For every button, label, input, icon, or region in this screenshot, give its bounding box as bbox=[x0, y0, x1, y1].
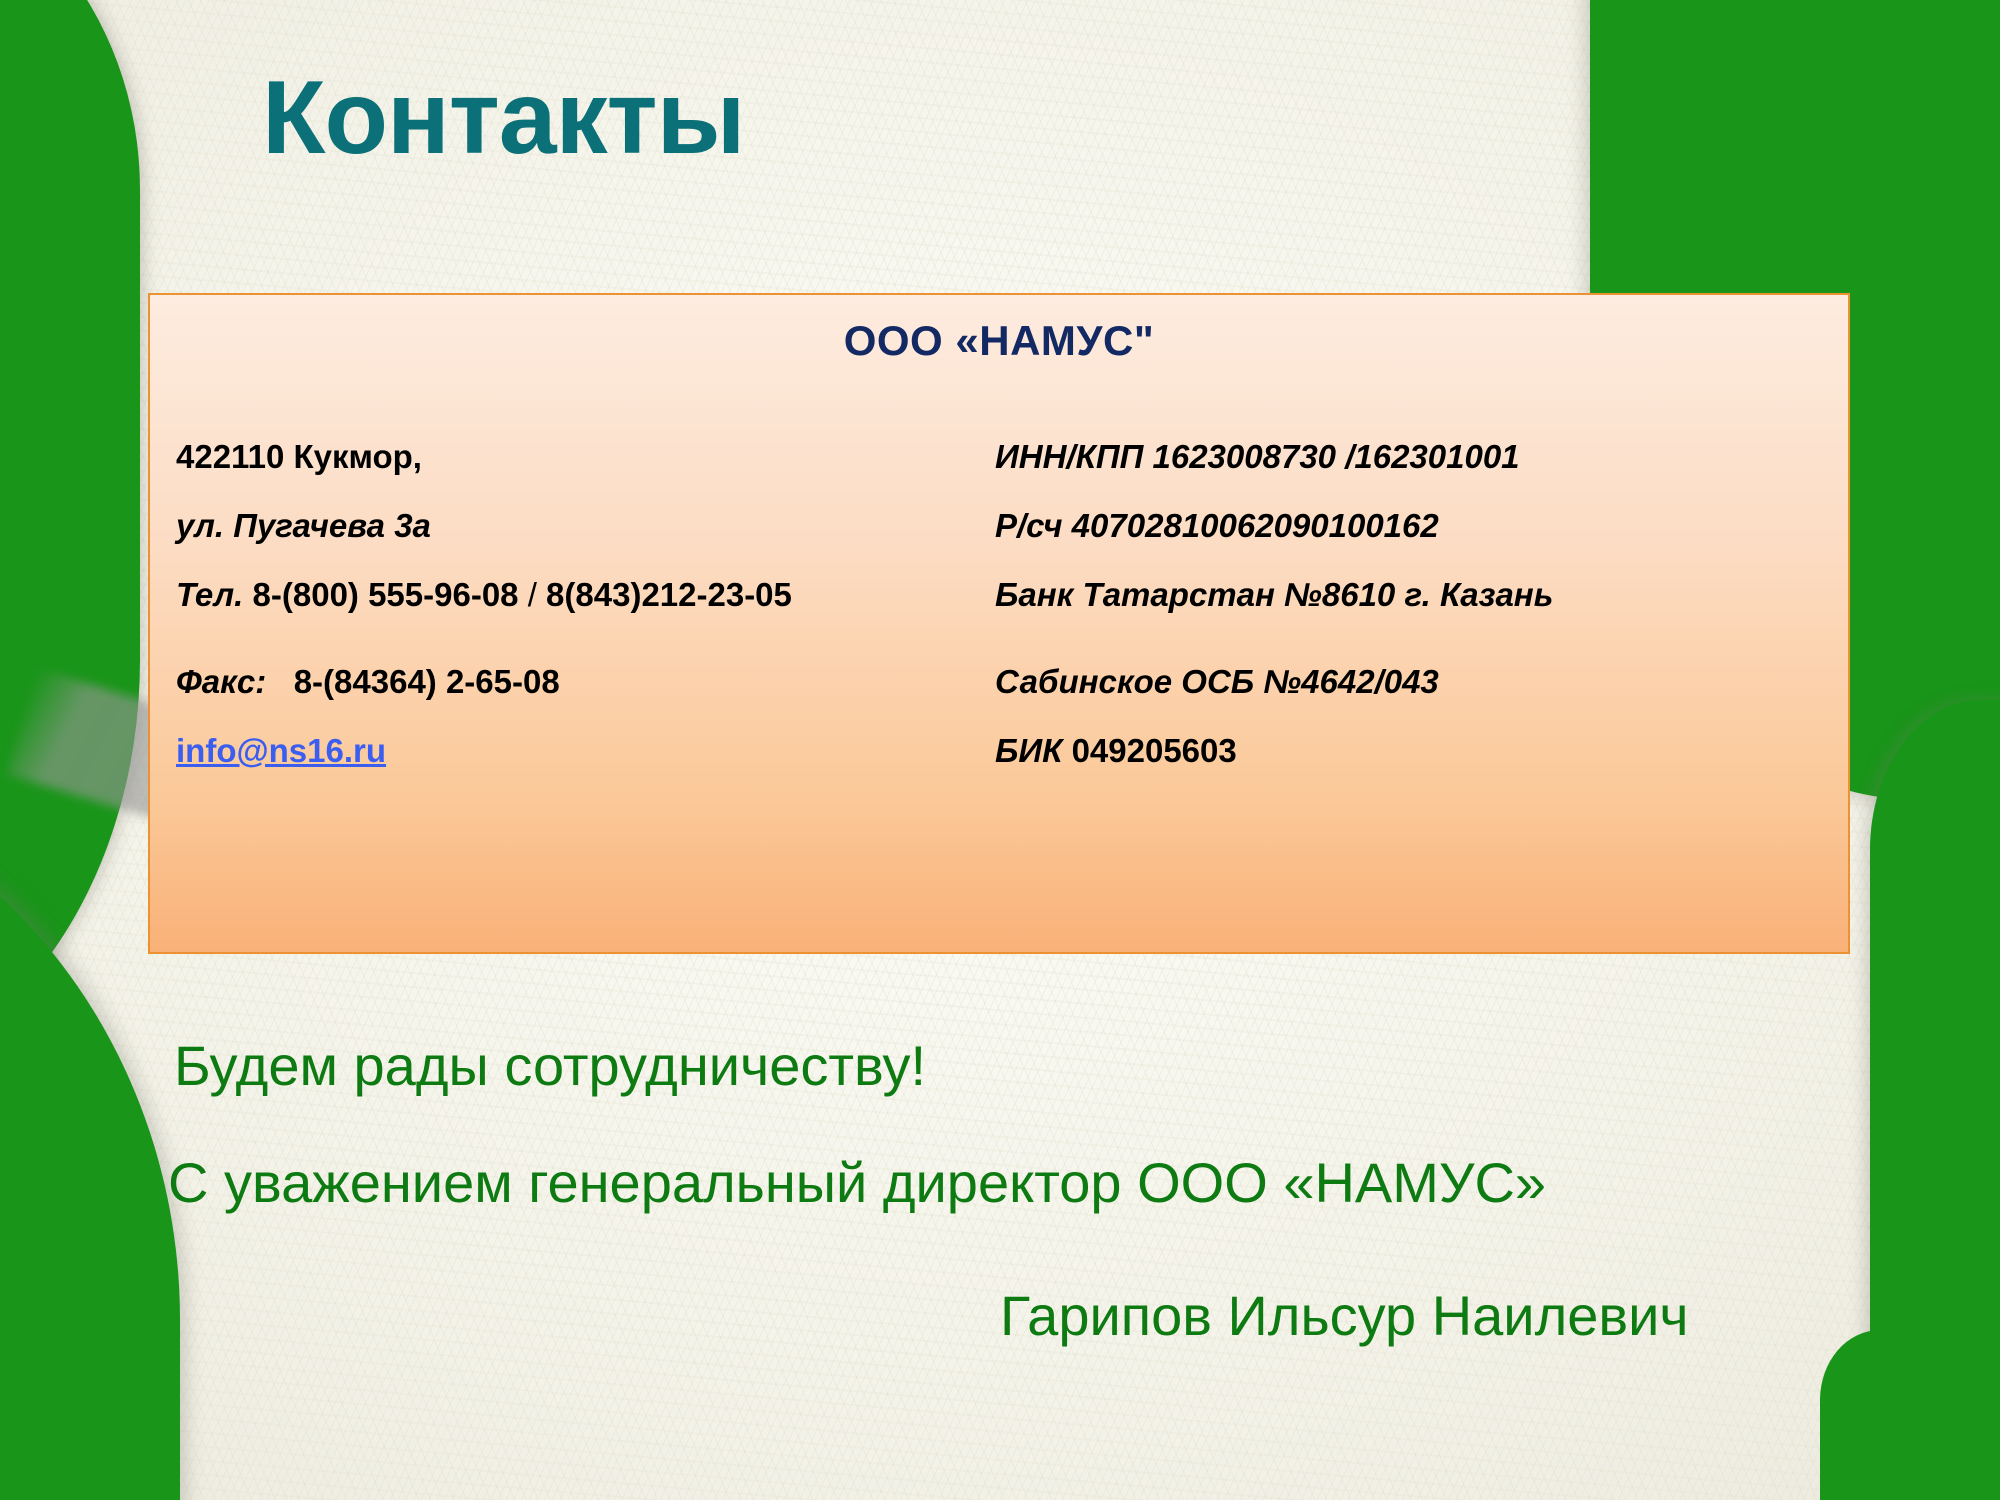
postal-address-row: 422110 Кукмор, bbox=[176, 440, 976, 473]
fax-label: Факс: bbox=[176, 663, 266, 700]
bank-name-row: Банк Татарстан №8610 г. Казань bbox=[995, 578, 1825, 611]
page-title: Контакты bbox=[262, 64, 744, 173]
phone-label: Тел. bbox=[176, 576, 243, 613]
bank-branch-value: Сабинское ОСБ №4642/043 bbox=[995, 663, 1439, 700]
bik-label: БИК bbox=[995, 732, 1062, 769]
street-address: ул. Пугачева 3а bbox=[176, 507, 431, 544]
bank-branch-row: Сабинское ОСБ №4642/043 bbox=[995, 665, 1825, 698]
bik-row: БИК 049205603 bbox=[995, 734, 1825, 767]
closing-line-director: С уважением генеральный директор ООО «НА… bbox=[168, 1155, 1546, 1211]
contact-right-column: ИНН/КПП 1623008730 /162301001 Р/сч 40702… bbox=[995, 440, 1825, 803]
closing-line-signature-name: Гарипов Ильсур Наилевич bbox=[1000, 1288, 1689, 1344]
closing-line-cooperation: Будем рады сотрудничеству! bbox=[174, 1038, 926, 1094]
slide-canvas: Контакты ООО «НАМУС" 422110 Кукмор, ул. … bbox=[0, 0, 2000, 1500]
company-name-heading: ООО «НАМУС" bbox=[150, 317, 1848, 365]
bank-account-row: Р/сч 40702810062090100162 bbox=[995, 509, 1825, 542]
phone-number-secondary: 8(843)212-23-05 bbox=[546, 576, 792, 613]
email-link[interactable]: info@ns16.ru bbox=[176, 734, 386, 767]
inn-kpp-row: ИНН/КПП 1623008730 /162301001 bbox=[995, 440, 1825, 473]
email-row: info@ns16.ru bbox=[176, 734, 976, 767]
bik-value: 049205603 bbox=[1072, 732, 1237, 769]
postal-code-and-city: 422110 Кукмор, bbox=[176, 438, 422, 475]
inn-kpp-value: ИНН/КПП 1623008730 /162301001 bbox=[995, 438, 1520, 475]
green-shape-bottom-right bbox=[1820, 1330, 2000, 1500]
fax-row: Факс: 8-(84364) 2-65-08 bbox=[176, 665, 976, 698]
contact-left-column: 422110 Кукмор, ул. Пугачева 3а Тел. 8-(8… bbox=[176, 440, 976, 803]
fax-number: 8-(84364) 2-65-08 bbox=[294, 663, 560, 700]
phone-number-primary: 8-(800) 555-96-08 bbox=[253, 576, 519, 613]
bank-account-value: Р/сч 40702810062090100162 bbox=[995, 507, 1439, 544]
phone-row: Тел. 8-(800) 555-96-08 / 8(843)212-23-05 bbox=[176, 578, 976, 611]
phone-separator: / bbox=[528, 576, 537, 613]
contact-info-box: ООО «НАМУС" 422110 Кукмор, ул. Пугачева … bbox=[148, 293, 1850, 954]
street-address-row: ул. Пугачева 3а bbox=[176, 509, 976, 542]
bank-name-value: Банк Татарстан №8610 г. Казань bbox=[995, 576, 1553, 613]
